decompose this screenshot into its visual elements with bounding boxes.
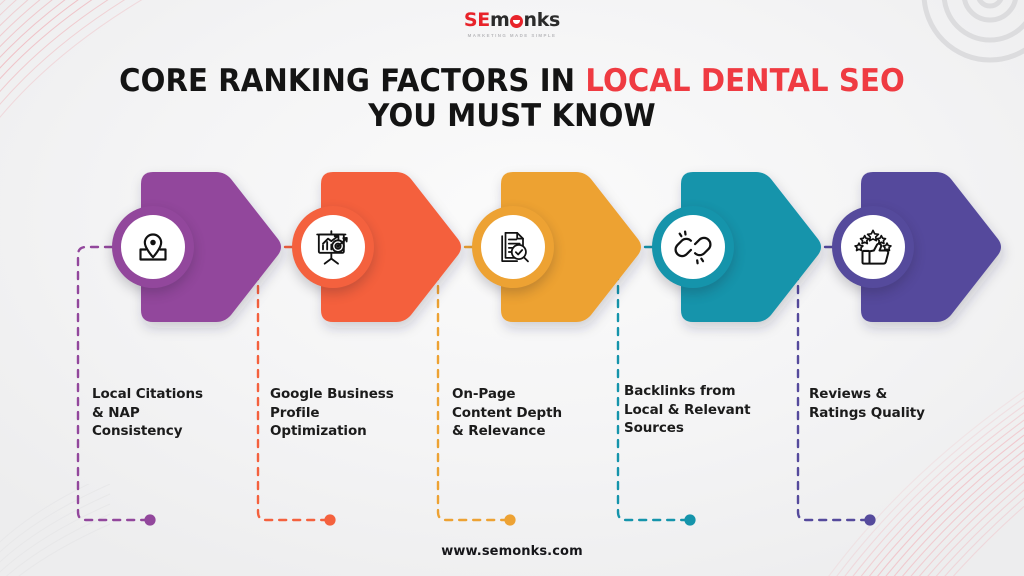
icon-badge-step-2 bbox=[292, 206, 374, 288]
chevron-arrows bbox=[0, 0, 1024, 576]
icon-badge-step-5 bbox=[832, 206, 914, 288]
infographic-canvas: SEmnks MARKETING MADE SIMPLE CORE RANKIN… bbox=[0, 0, 1024, 576]
step-label-1: Local Citations & NAP Consistency bbox=[92, 385, 242, 441]
document-magnifier-check-icon bbox=[493, 227, 533, 267]
step-label-4: Backlinks from Local & Relevant Sources bbox=[624, 382, 794, 438]
icon-badge-step-1 bbox=[112, 206, 194, 288]
chain-link-icon bbox=[673, 227, 713, 267]
step-label-2: Google Business Profile Optimization bbox=[270, 385, 430, 441]
step-label-5: Reviews & Ratings Quality bbox=[809, 385, 969, 422]
step-label-3: On-Page Content Depth & Relevance bbox=[452, 385, 607, 441]
map-location-pin-icon bbox=[133, 227, 173, 267]
thumbs-up-stars-icon bbox=[852, 226, 894, 268]
footer-website-url[interactable]: www.semonks.com bbox=[0, 544, 1024, 559]
icon-badge-step-3 bbox=[472, 206, 554, 288]
icon-badge-step-4 bbox=[652, 206, 734, 288]
presentation-chart-target-icon bbox=[313, 227, 353, 267]
